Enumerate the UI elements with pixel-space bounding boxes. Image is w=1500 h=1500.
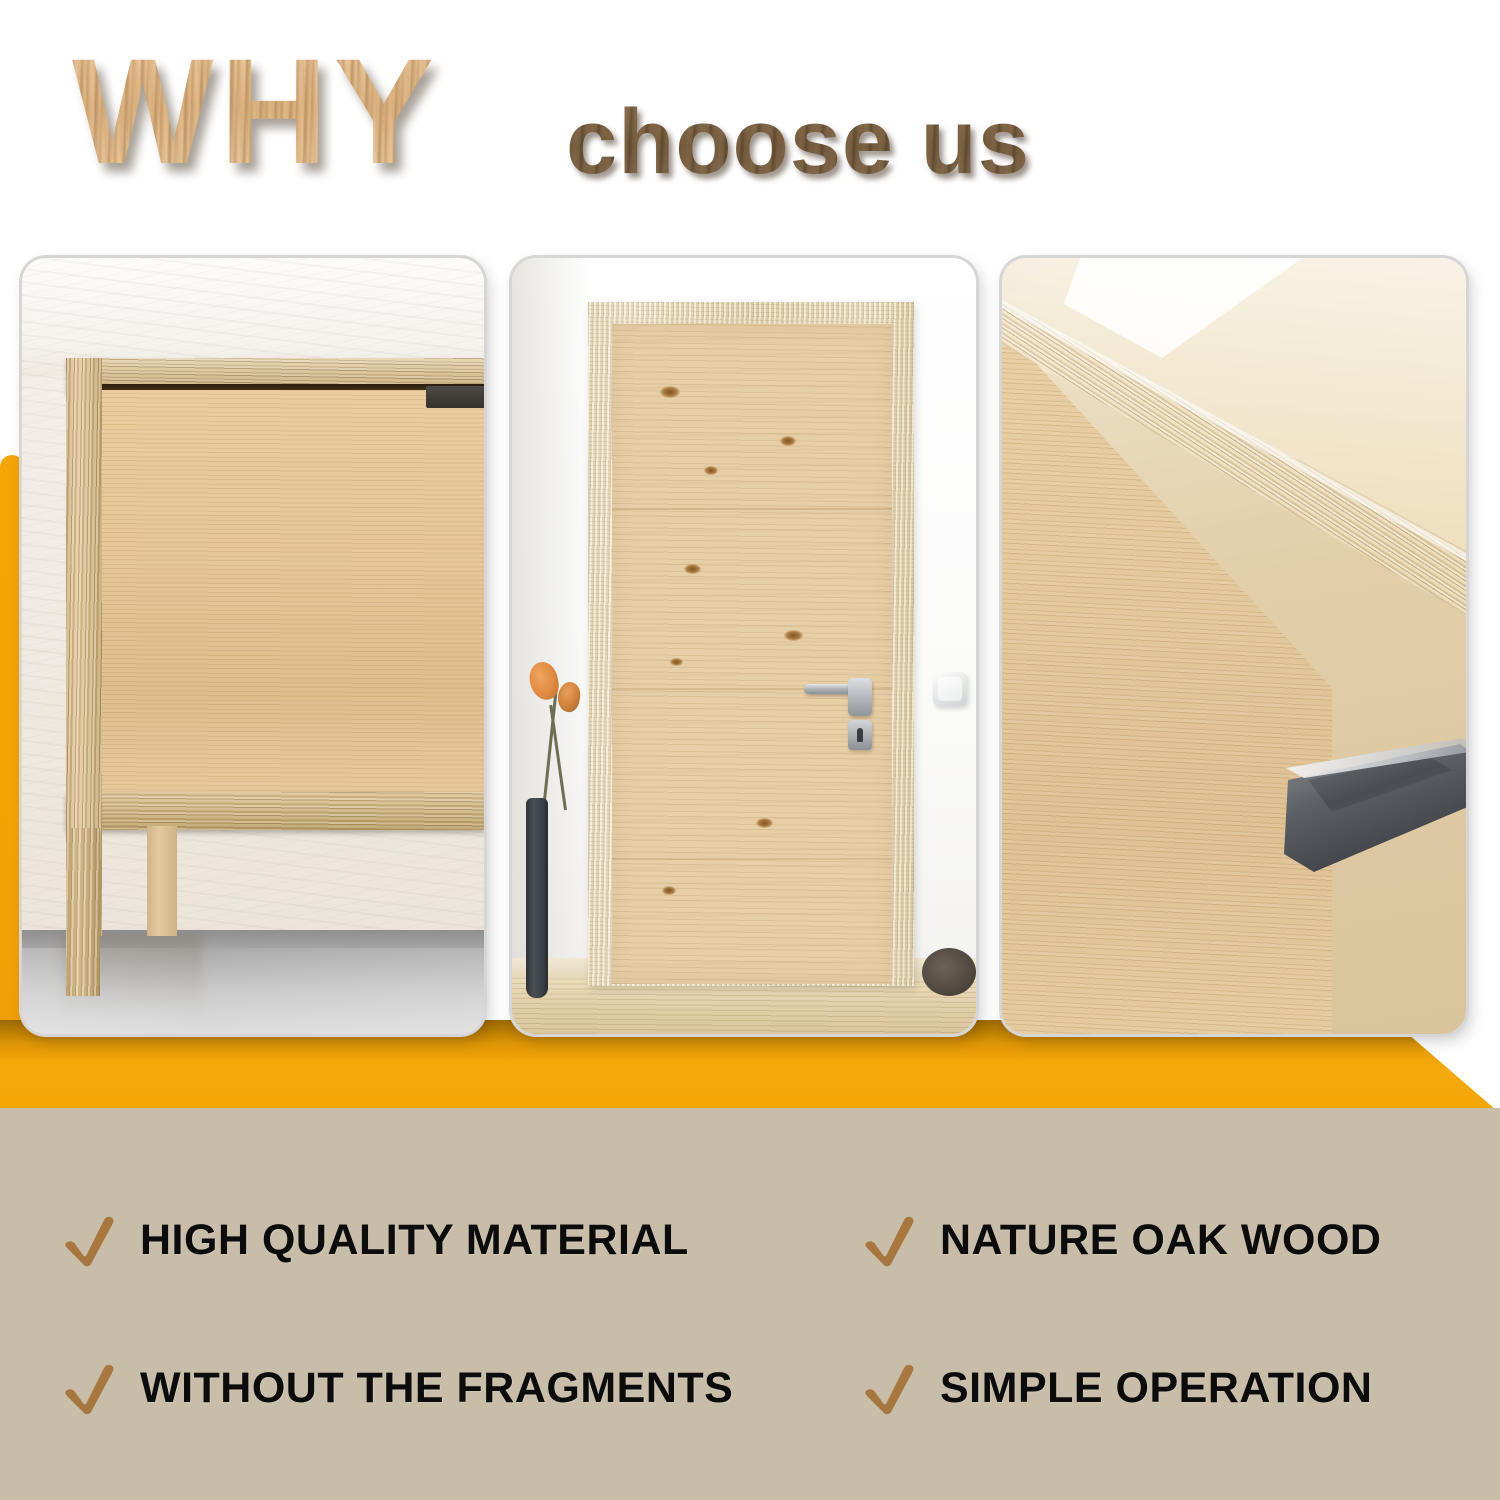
wood-knot xyxy=(670,658,683,666)
photo-panel-plywood-edge-handle xyxy=(1002,258,1466,1034)
photo-panel-oak-door xyxy=(512,258,976,1034)
check-icon xyxy=(862,1212,918,1268)
door-grain-seam xyxy=(612,508,892,510)
wood-knot xyxy=(780,436,796,446)
promo-graphic: WHY choose us xyxy=(0,0,1500,1500)
feature-label: NATURE OAK WOOD xyxy=(940,1216,1381,1265)
wood-knot xyxy=(704,466,718,475)
light-switch-rocker xyxy=(938,677,962,701)
feature-item-simple-operation: SIMPLE OPERATION xyxy=(862,1360,1372,1416)
wood-knot xyxy=(684,564,701,574)
orange-accent-vertical-bar xyxy=(0,455,24,1055)
cabinet-handle xyxy=(426,386,484,408)
wood-knot xyxy=(662,886,676,895)
wood-knot xyxy=(756,818,773,828)
oak-door-grain xyxy=(612,324,892,984)
wood-floor-grain xyxy=(512,978,976,1034)
door-keyhole xyxy=(857,728,863,742)
check-icon xyxy=(862,1360,918,1416)
wall-shading xyxy=(512,258,592,1034)
cabinet-bottom-rail-plywood-edge xyxy=(66,792,484,830)
cabinet-door-grain xyxy=(100,390,484,794)
feature-label: HIGH QUALITY MATERIAL xyxy=(140,1216,689,1265)
door-grain-seam xyxy=(612,858,892,860)
check-icon xyxy=(62,1212,118,1268)
check-icon xyxy=(62,1360,118,1416)
floor-vase xyxy=(526,798,548,998)
features-panel: HIGH QUALITY MATERIAL NATURE OAK WOOD WI… xyxy=(0,1108,1500,1500)
photo-panel-oak-cabinet xyxy=(22,258,484,1034)
headline-word-choose-us: choose us xyxy=(566,96,1030,188)
door-handle-rose xyxy=(848,678,872,716)
wood-knot xyxy=(784,630,803,641)
feature-item-without-the-fragments: WITHOUT THE FRAGMENTS xyxy=(62,1360,733,1416)
features-grid: HIGH QUALITY MATERIAL NATURE OAK WOOD WI… xyxy=(0,1108,1500,1500)
feature-label: WITHOUT THE FRAGMENTS xyxy=(140,1364,733,1413)
cabinet-leg-front-grain xyxy=(66,828,100,996)
feature-item-nature-oak-wood: NATURE OAK WOOD xyxy=(862,1212,1381,1268)
feature-label: SIMPLE OPERATION xyxy=(940,1364,1372,1413)
feature-item-high-quality-material: HIGH QUALITY MATERIAL xyxy=(62,1212,689,1268)
wood-log-stool xyxy=(922,948,976,996)
wood-knot xyxy=(660,386,680,398)
headline: WHY choose us xyxy=(0,0,1500,230)
cabinet-leg-back xyxy=(147,826,177,936)
headline-word-why: WHY xyxy=(72,36,440,186)
